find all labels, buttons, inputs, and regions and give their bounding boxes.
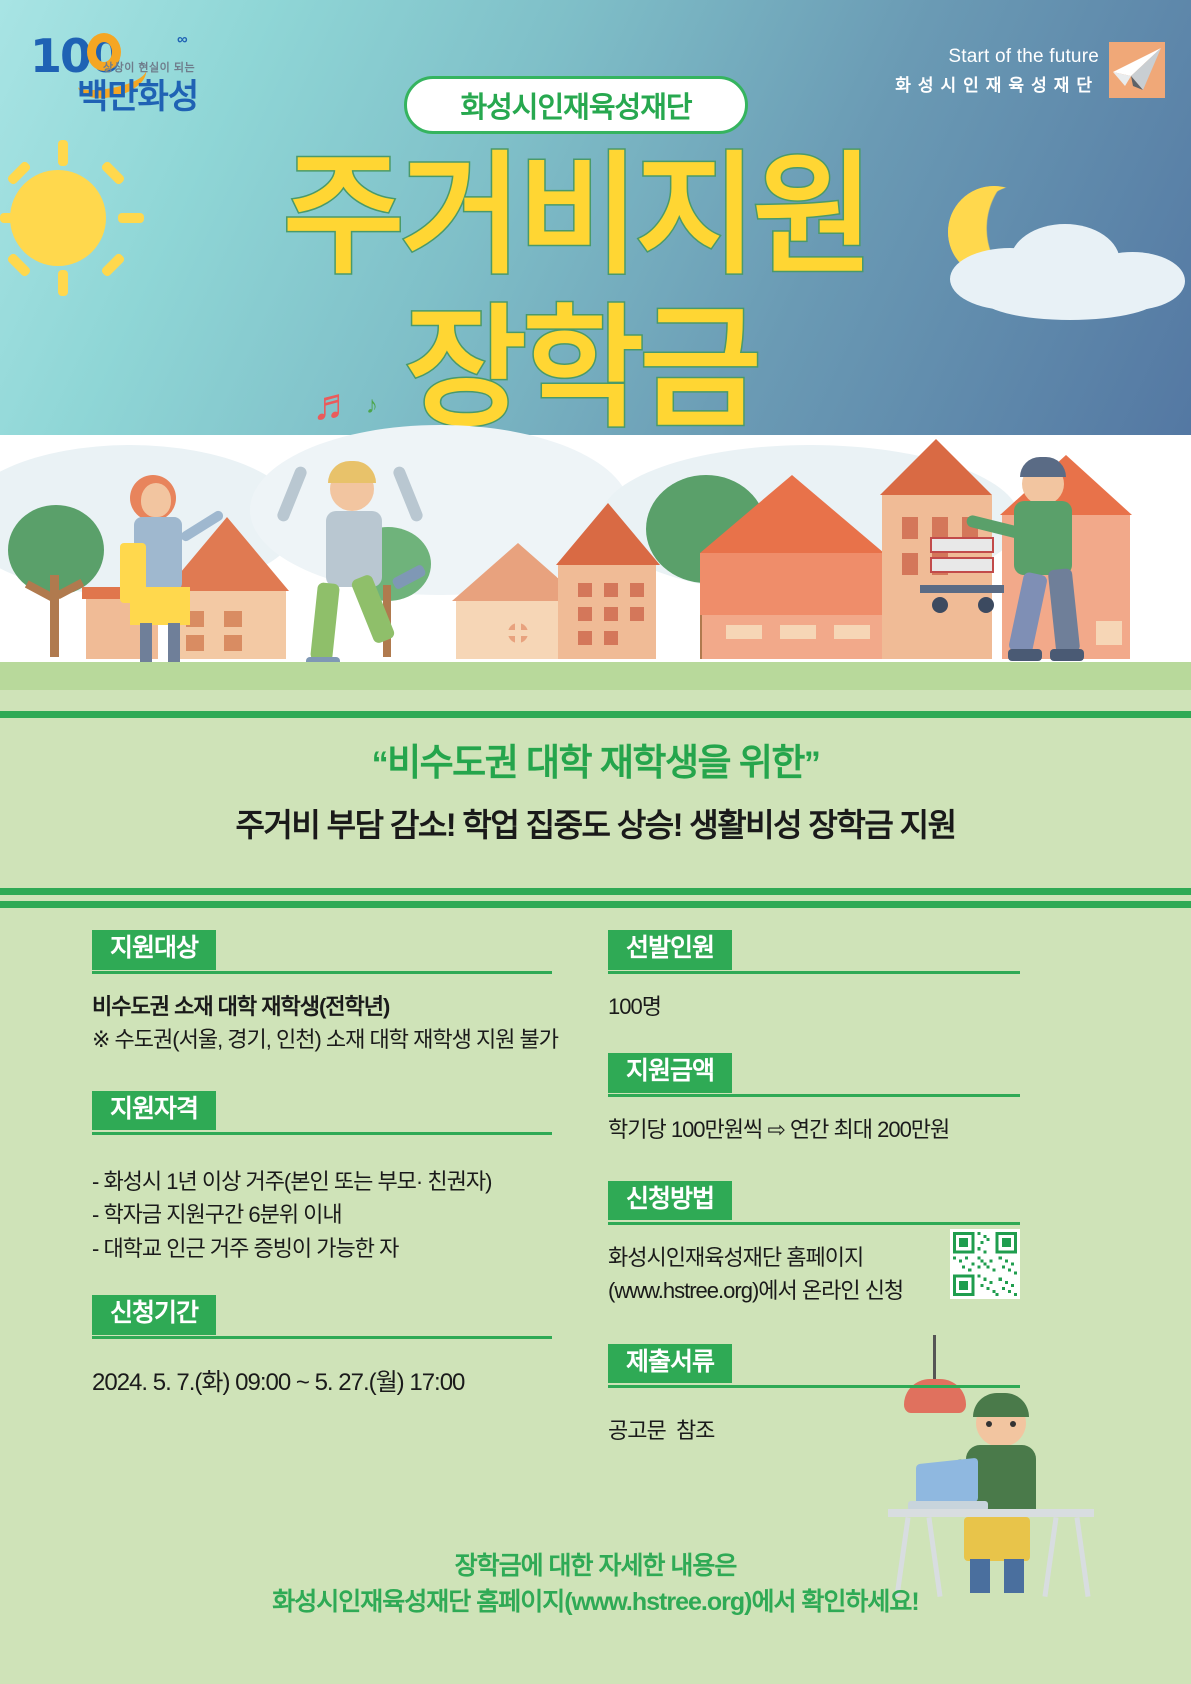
city-logo-name: 백만화성 [77,69,198,118]
quote-open-mark: “ [372,745,388,783]
poster-root: 100 ∞ 상상이 현실이 되는 백만화성 Start of the futur… [0,0,1191,1684]
section-line: - 대학교 인근 거주 증빙이 가능한 자 [92,1232,552,1265]
foundation-logo-en: Start of the future [895,46,1099,68]
qr-code-icon[interactable] [950,1229,1020,1299]
music-note-icon: ♪ [366,392,378,420]
foundation-logo: Start of the future 화성시인재육성재단 [895,26,1165,98]
divider-mid-1 [0,888,1191,895]
intro-quote-text: 비수도권 대학 재학생을 위한 [387,742,804,783]
section-line: ※ 수도권(서울, 경기, 인천) 소재 대학 재학생 지원 불가 [92,1023,552,1056]
section-support-target: 지원대상 비수도권 소재 대학 재학생(전학년) ※ 수도권(서울, 경기, 인… [92,930,552,1091]
hero-title-line2: 장학금 [405,303,757,435]
foundation-badge-label: 화성시인재육성재단 [460,84,691,126]
infinity-icon: ∞ [177,31,188,48]
paper-plane-icon [1109,42,1165,98]
intro-quote: “비수도권 대학 재학생을 위한” [0,732,1191,786]
section-application-period: 신청기간 2024. 5. 7.(화) 09:00 ~ 5. 27.(월) 17… [92,1295,552,1401]
town-illustration [0,435,1191,690]
section-title: 신청기간 [92,1295,216,1335]
foundation-logo-kr: 화성시인재육성재단 [895,71,1099,96]
section-line: 학기당 100만원씩 ⇨ 연간 최대 200만원 [608,1113,1020,1146]
music-note-icon: ♬ [312,380,356,430]
section-line: - 화성시 1년 이상 거주(본인 또는 부모· 친권자) [92,1165,552,1198]
city-logo: 100 ∞ 상상이 현실이 되는 백만화성 [25,25,255,105]
footer-line-2: 화성시인재육성재단 홈페이지(www.hstree.org)에서 확인하세요! [0,1584,1191,1620]
section-line: 비수도권 소재 대학 재학생(전학년) [92,990,552,1023]
section-title: 지원대상 [92,930,216,970]
divider-top [0,711,1191,718]
footer-line-1: 장학금에 대한 자세한 내용은 [0,1548,1191,1584]
hero-banner: 100 ∞ 상상이 현실이 되는 백만화성 Start of the futur… [0,0,1191,690]
section-how-to-apply: 신청방법 화성시인재육성재단 홈페이지 (www.hstree.org)에서 온… [608,1181,1020,1344]
section-line: 100명 [608,990,1020,1023]
divider-mid-2 [0,901,1191,908]
section-line: - 학자금 지원구간 6분위 이내 [92,1198,552,1231]
intro-subtitle: 주거비 부담 감소! 학업 집중도 상승! 생활비성 장학금 지원 [0,800,1191,846]
quote-close-mark: ” [804,745,820,783]
section-eligibility: 지원자격 - 화성시 1년 이상 거주(본인 또는 부모· 친권자) - 학자금… [92,1091,552,1295]
cloud-icon [950,218,1190,328]
foundation-badge: 화성시인재육성재단 [404,76,748,134]
section-selection-count: 선발인원 100명 [608,930,1020,1053]
section-line: 2024. 5. 7.(화) 09:00 ~ 5. 27.(월) 17:00 [92,1365,552,1401]
footer-note: 장학금에 대한 자세한 내용은 화성시인재육성재단 홈페이지(www.hstre… [0,1548,1191,1621]
section-title: 선발인원 [608,930,732,970]
left-column: 지원대상 비수도권 소재 대학 재학생(전학년) ※ 수도권(서울, 경기, 인… [92,930,552,1402]
section-title: 제출서류 [608,1344,732,1384]
section-title: 지원금액 [608,1053,732,1093]
section-title: 신청방법 [608,1181,732,1221]
hero-title-line1: 주거비지원 [283,150,870,282]
section-title: 지원자격 [92,1091,216,1131]
section-support-amount: 지원금액 학기당 100만원씩 ⇨ 연간 최대 200만원 [608,1053,1020,1180]
